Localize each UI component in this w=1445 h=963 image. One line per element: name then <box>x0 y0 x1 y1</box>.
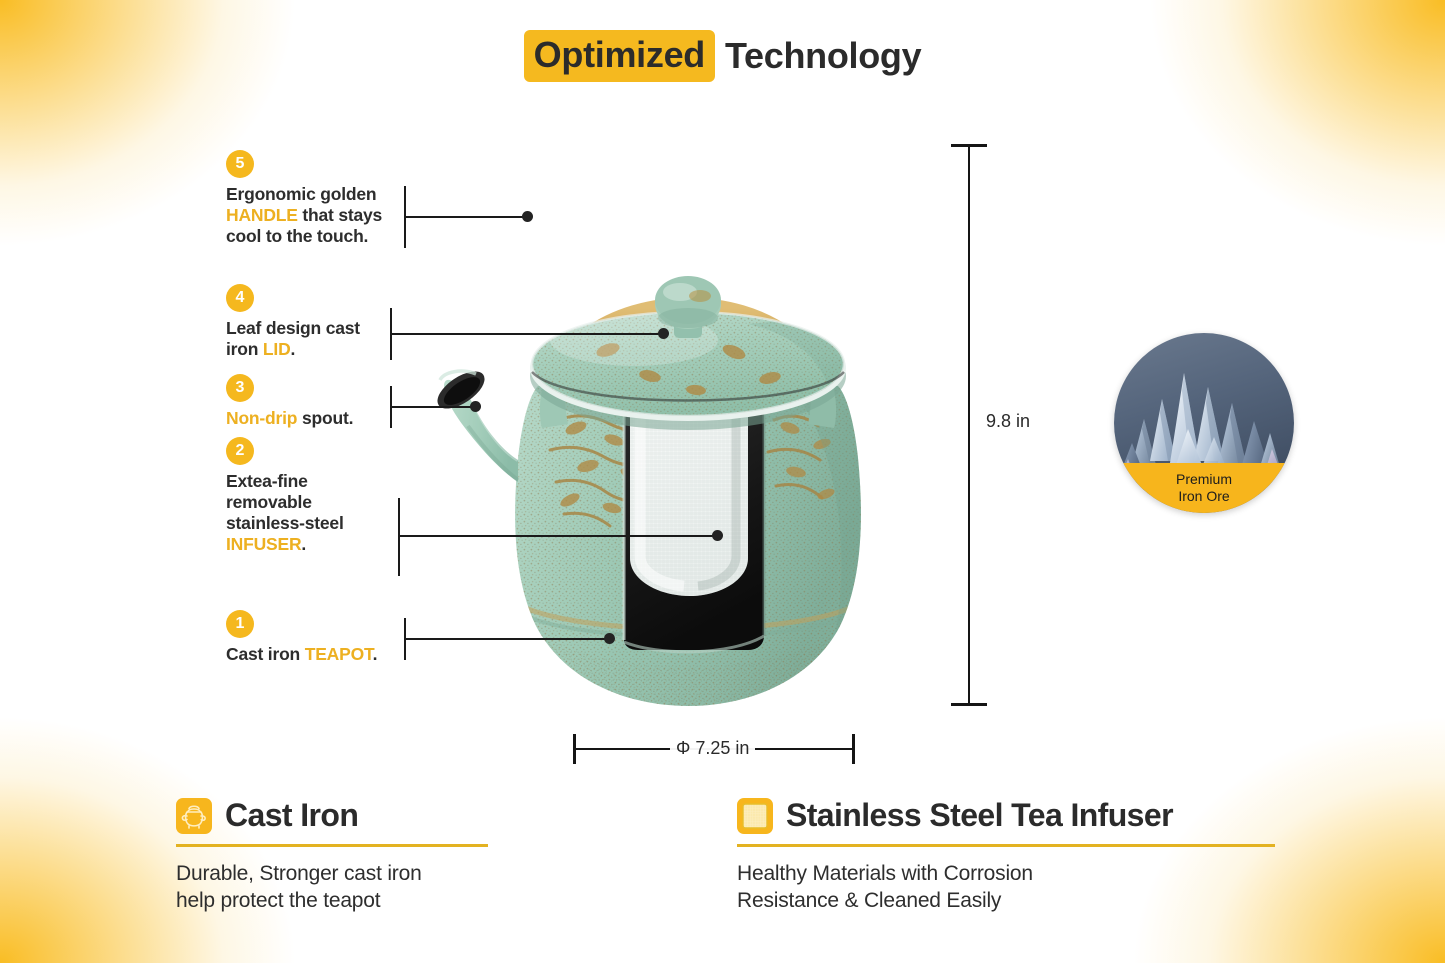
dimension-width-cap-right <box>852 734 855 764</box>
dimension-height-line <box>968 144 970 706</box>
annotation-badge-3: 3 <box>226 374 254 402</box>
leader-line-5 <box>404 186 534 248</box>
feature-tea-infuser-desc: Healthy Materials with Corrosion Resista… <box>737 860 1275 915</box>
anno2-l1: Extea-fine <box>226 471 308 491</box>
annotation-badge-5: 5 <box>226 150 254 178</box>
anno4-l1: Leaf design cast <box>226 318 360 338</box>
leader-line-3 <box>390 386 485 428</box>
leader-line-2 <box>398 498 730 576</box>
annotation-text-5: Ergonomic golden HANDLE that stays cool … <box>226 184 426 247</box>
anno5-l1: Ergonomic golden <box>226 184 376 204</box>
feature1-desc-line2: help protect the teapot <box>176 887 488 914</box>
feature-tea-infuser: Stainless Steel Tea Infuser Healthy Mate… <box>737 797 1275 914</box>
leader-dot-5 <box>522 211 533 222</box>
annotation-5: 5 Ergonomic golden HANDLE that stays coo… <box>226 150 426 247</box>
anno4-l2-hl: LID <box>263 339 291 359</box>
dimension-height-cap-top <box>951 144 987 147</box>
mesh-grid-icon <box>737 798 773 834</box>
feature1-desc-line1: Durable, Stronger cast iron <box>176 860 488 887</box>
ore-caption-line2: Iron Ore <box>1178 488 1229 505</box>
premium-iron-ore-badge: Premium Iron Ore <box>1114 333 1294 513</box>
anno1-l1b: . <box>373 644 378 664</box>
feature2-desc-line2: Resistance & Cleaned Easily <box>737 887 1275 914</box>
leader-dot-1 <box>604 633 615 644</box>
dimension-height-label: 9.8 in <box>982 408 1034 435</box>
feature-tea-infuser-title: Stainless Steel Tea Infuser <box>786 797 1173 834</box>
anno1-l1a: Cast iron <box>226 644 305 664</box>
feature-tea-infuser-header: Stainless Steel Tea Infuser <box>737 797 1275 834</box>
dimension-width-label: Φ 7.25 in <box>670 736 755 761</box>
infographic-canvas: OptimizedTechnology <box>0 0 1445 963</box>
ore-caption-line1: Premium <box>1176 471 1232 488</box>
anno5-l2: that stays <box>298 205 382 225</box>
feature-cast-iron-rule <box>176 844 488 847</box>
title-rest: Technology <box>715 35 921 77</box>
ore-badge-caption: Premium Iron Ore <box>1114 463 1294 513</box>
dimension-height-cap-bottom <box>951 703 987 706</box>
anno2-l2: removable <box>226 492 312 512</box>
feature-cast-iron-desc: Durable, Stronger cast iron help protect… <box>176 860 488 915</box>
leader-dot-4 <box>658 328 669 339</box>
anno2-l4: . <box>301 534 306 554</box>
annotation-1: 1 Cast iron TEAPOT. <box>226 610 426 665</box>
feature-cast-iron-title: Cast Iron <box>225 797 358 834</box>
annotation-text-1: Cast iron TEAPOT. <box>226 644 426 665</box>
anno2-l3: stainless-steel <box>226 513 344 533</box>
anno1-l1-hl: TEAPOT <box>305 644 373 664</box>
page-title: OptimizedTechnology <box>0 30 1445 82</box>
feature-cast-iron-header: Cast Iron <box>176 797 488 834</box>
anno3-l1-hl: Non-drip <box>226 408 297 428</box>
anno3-l1: spout. <box>297 408 353 428</box>
annotation-text-2: Extea-fine removable stainless-steel INF… <box>226 471 426 555</box>
annotation-2: 2 Extea-fine removable stainless-steel I… <box>226 437 426 555</box>
annotation-badge-1: 1 <box>226 610 254 638</box>
anno2-l4-hl: INFUSER <box>226 534 301 554</box>
dimension-width-cap-left <box>573 734 576 764</box>
leader-dot-3 <box>470 401 481 412</box>
leader-dot-2 <box>712 530 723 541</box>
leader-line-1 <box>404 618 619 660</box>
anno4-l2b: . <box>291 339 296 359</box>
feature-cast-iron: Cast Iron Durable, Stronger cast iron he… <box>176 797 488 914</box>
annotation-badge-2: 2 <box>226 437 254 465</box>
feature-tea-infuser-rule <box>737 844 1275 847</box>
leader-line-4 <box>390 308 675 360</box>
teapot-icon <box>176 798 212 834</box>
feature2-desc-line1: Healthy Materials with Corrosion <box>737 860 1275 887</box>
anno5-l3: cool to the touch. <box>226 226 368 246</box>
anno5-l2-hl: HANDLE <box>226 205 298 225</box>
title-highlight: Optimized <box>524 30 715 82</box>
anno4-l2a: iron <box>226 339 263 359</box>
annotation-badge-4: 4 <box>226 284 254 312</box>
